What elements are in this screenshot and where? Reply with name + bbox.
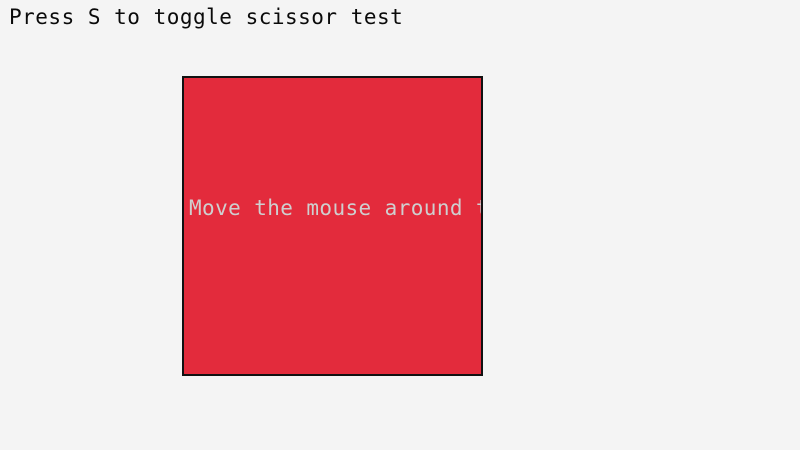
instruction-text: Press S to toggle scissor test [9, 4, 403, 30]
scissor-rectangle[interactable]: Move the mouse around to resize the scis… [182, 76, 483, 376]
scissor-test-canvas: Press S to toggle scissor test Move the … [0, 0, 800, 450]
clipped-message-text: Move the mouse around to resize the scis… [189, 196, 483, 220]
